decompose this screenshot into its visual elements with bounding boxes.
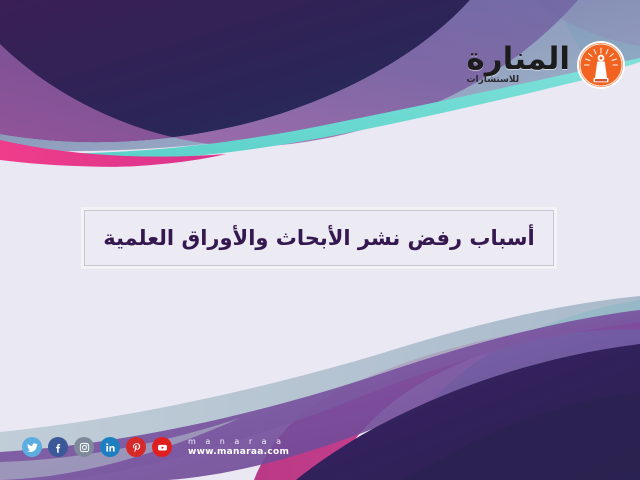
instagram-icon[interactable] <box>74 437 94 457</box>
page-title: أسباب رفض نشر الأبحاث والأوراق العلمية <box>103 226 535 250</box>
facebook-icon[interactable] <box>48 437 68 457</box>
brand-logo: المنارة للاستشارات <box>467 40 627 90</box>
logo-wordmark: المنارة <box>467 44 571 75</box>
youtube-icon[interactable] <box>152 437 172 457</box>
brand-name-spaced: m a n a r a a <box>188 437 289 447</box>
footer-brand-text: m a n a r a a www.manaraa.com <box>188 437 289 458</box>
lighthouse-icon <box>576 40 626 90</box>
slide-title-box: أسباب رفض نشر الأبحاث والأوراق العلمية <box>84 210 554 266</box>
footer-social-bar: m a n a r a a www.manaraa.com <box>22 437 289 458</box>
twitter-icon[interactable] <box>22 437 42 457</box>
linkedin-icon[interactable] <box>100 437 120 457</box>
slide-canvas: المنارة للاستشارات أسباب رفض نشر الأبحاث… <box>0 0 640 480</box>
pinterest-icon[interactable] <box>126 437 146 457</box>
logo-subtitle: للاستشارات <box>467 76 520 85</box>
brand-website-url[interactable]: www.manaraa.com <box>188 447 289 458</box>
